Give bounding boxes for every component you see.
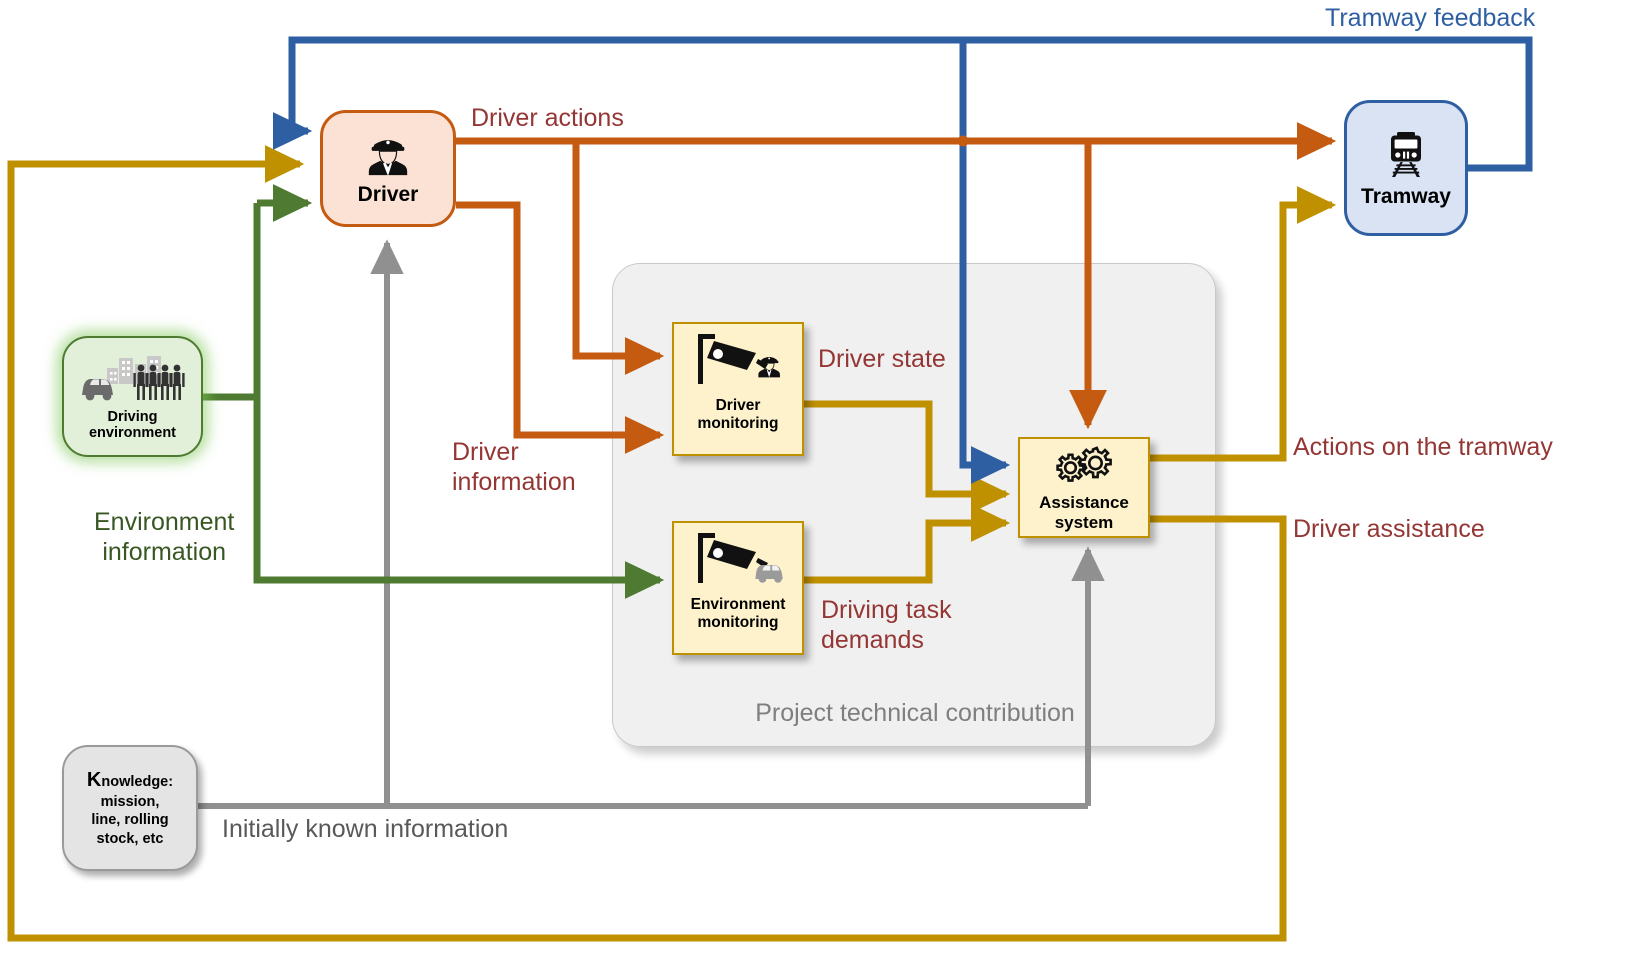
edge-driver-state: [804, 404, 1006, 494]
edge-driving-task-demands: [804, 523, 1006, 580]
edge-driver-actions: [456, 141, 1332, 425]
edge-label-environment-information: Environment information: [94, 508, 234, 567]
edge-label-tramway-feedback: Tramway feedback: [1325, 4, 1535, 34]
node-environment-monitoring-label: Environment monitoring: [691, 596, 786, 632]
node-driving-environment[interactable]: Driving environment: [62, 336, 203, 457]
driver-officer-icon: [365, 131, 411, 182]
tram-front-icon: [1380, 128, 1432, 185]
gears-icon: [1053, 442, 1115, 493]
car-city-pedestrians-icon: [79, 352, 187, 407]
camera-car-icon: [684, 529, 792, 594]
node-environment-monitoring[interactable]: Environment monitoring: [672, 521, 804, 655]
edge-label-driving-task-demands: Driving task demands: [821, 596, 952, 655]
edge-label-driver-actions: Driver actions: [471, 104, 624, 134]
node-driver-monitoring-label: Driver monitoring: [698, 397, 779, 433]
node-driving-environment-label: Driving environment: [89, 409, 176, 441]
node-knowledge-label-rest: nowledge:: [101, 774, 173, 790]
diagram-canvas: Project technical contribution: [0, 0, 1625, 971]
edge-driver-information: [456, 205, 660, 435]
node-knowledge-label-lead: K: [87, 769, 101, 791]
edge-label-initially-known-information: Initially known information: [222, 815, 508, 845]
camera-driver-icon: [684, 330, 792, 395]
node-tramway-label: Tramway: [1361, 185, 1451, 209]
junction-dot: [958, 136, 969, 147]
edge-environment-information: [203, 203, 660, 580]
edge-label-driver-assistance: Driver assistance: [1293, 515, 1485, 545]
node-knowledge-label: Knowledge: mission, line, rolling stock,…: [87, 768, 173, 848]
edge-label-actions-on-the-tramway: Actions on the tramway: [1293, 433, 1553, 463]
node-tramway[interactable]: Tramway: [1344, 100, 1468, 236]
edge-actions-on-the-tramway: [1150, 205, 1332, 458]
node-knowledge[interactable]: Knowledge: mission, line, rolling stock,…: [62, 745, 198, 871]
node-assistance-system-label: Assistance system: [1039, 493, 1129, 532]
edge-label-driver-state: Driver state: [818, 345, 946, 375]
edge-label-driver-information: Driver information: [452, 438, 576, 497]
node-assistance-system[interactable]: Assistance system: [1018, 437, 1150, 538]
node-driver-label: Driver: [358, 183, 419, 207]
node-driver[interactable]: Driver: [320, 110, 456, 227]
node-knowledge-label-body: mission, line, rolling stock, etc: [91, 794, 168, 847]
node-driver-monitoring[interactable]: Driver monitoring: [672, 322, 804, 456]
